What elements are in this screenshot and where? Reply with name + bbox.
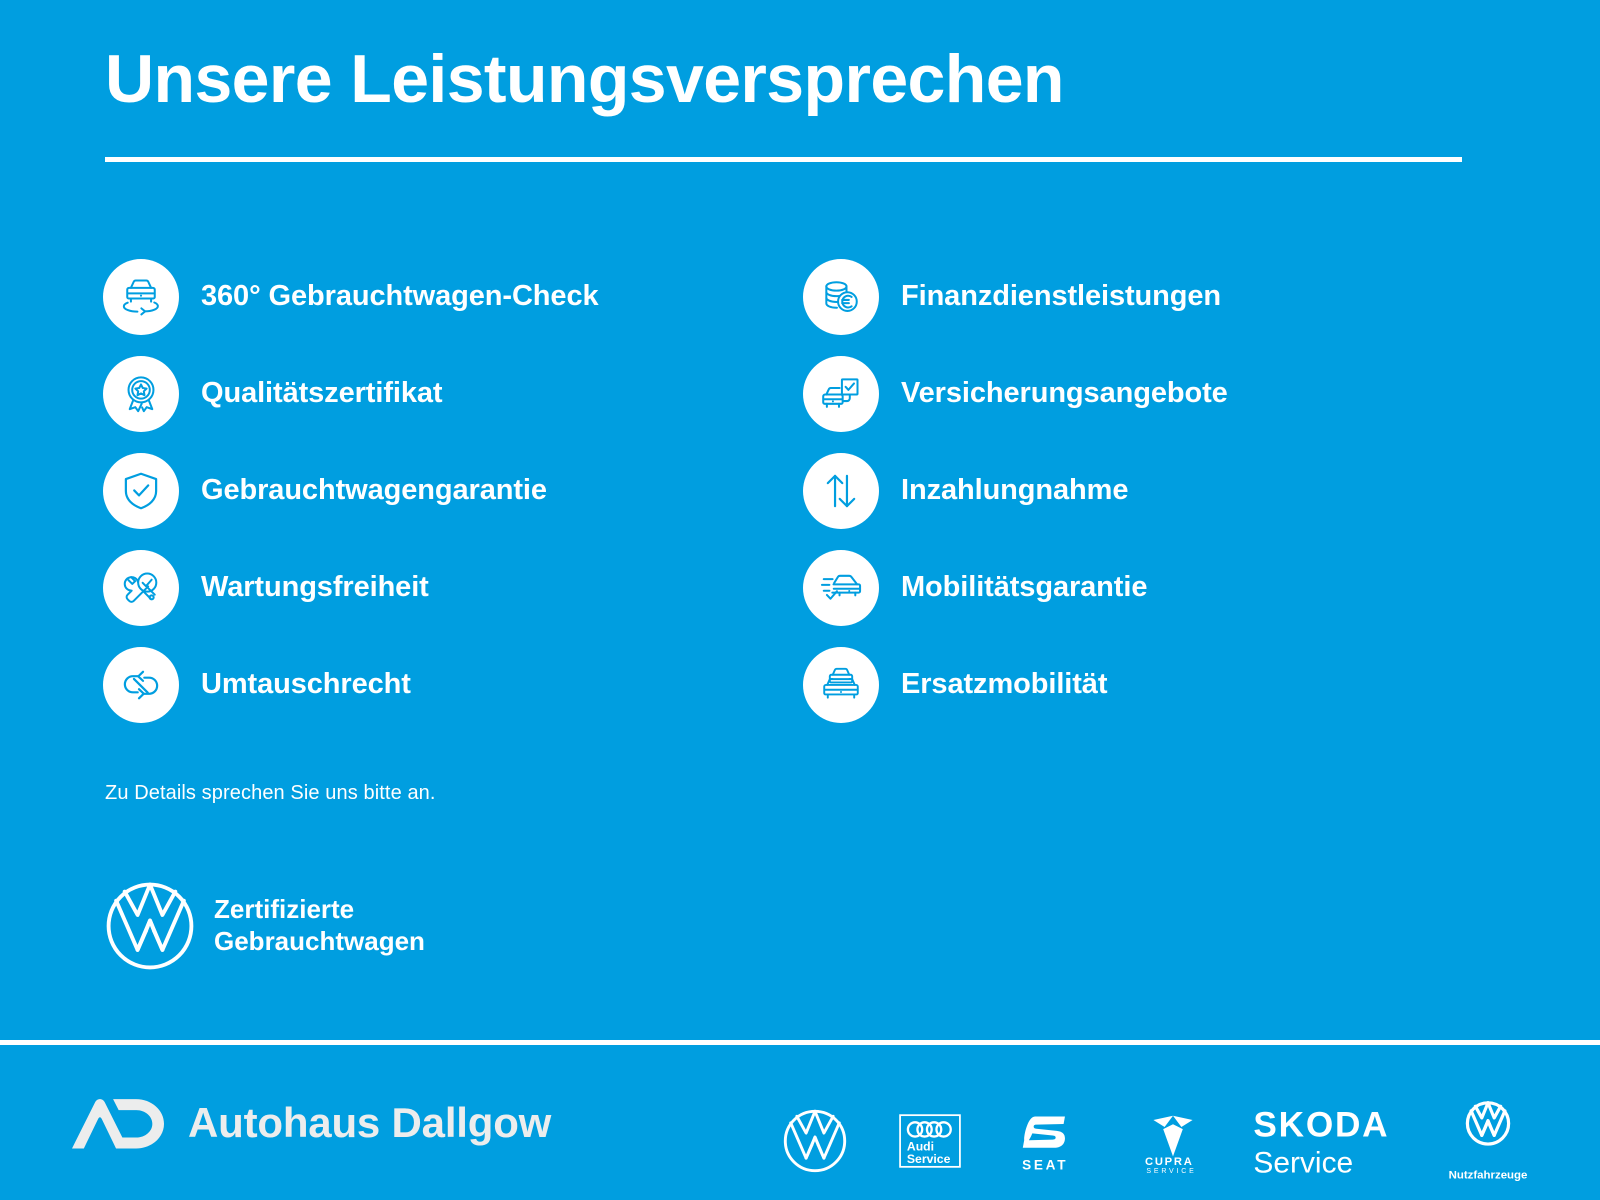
- dealer-branding: Autohaus Dallgow: [72, 1097, 551, 1149]
- svg-text:SEAT: SEAT: [1022, 1158, 1068, 1173]
- wrench-check-icon: [103, 550, 179, 626]
- page-title: Unsere Leistungsversprechen: [105, 44, 1465, 115]
- benefit-label: Qualitätszertifikat: [201, 377, 442, 410]
- benefit-item-360-check: 360° Gebrauchtwagen-Check: [103, 248, 803, 345]
- ad-monogram-icon: [72, 1097, 164, 1149]
- benefit-label: Finanzdienstleistungen: [901, 280, 1221, 313]
- certified-line-1: Zertifizierte: [214, 894, 354, 924]
- svg-text:Nutzfahrzeuge: Nutzfahrzeuge: [1448, 1169, 1527, 1181]
- shield-check-icon: [103, 453, 179, 529]
- brand-logo-audi-service: Audi Service: [870, 1091, 990, 1191]
- seat-s-icon: [1023, 1117, 1065, 1148]
- benefit-item-insurance-offers: Versicherungsangebote: [803, 345, 1503, 442]
- benefit-item-exchange-right: Umtauschrecht: [103, 636, 803, 733]
- coins-euro-icon: [803, 259, 879, 335]
- cupra-mark-icon: [1153, 1116, 1192, 1157]
- brand-logo-seat: SEAT: [990, 1091, 1110, 1191]
- certified-used-cars-badge: Zertifizierte Gebrauchtwagen: [104, 880, 425, 972]
- benefit-item-mobility-guarantee: Mobilitätsgarantie: [803, 539, 1503, 636]
- benefit-label: 360° Gebrauchtwagen-Check: [201, 280, 599, 313]
- arrows-up-down-icon: [803, 453, 879, 529]
- svg-text:Service: Service: [907, 1152, 951, 1166]
- benefit-item-replacement-mobility: Ersatzmobilität: [803, 636, 1503, 733]
- car-document-check-icon: [803, 356, 879, 432]
- benefit-label: Mobilitätsgarantie: [901, 571, 1147, 604]
- footer: Autohaus Dallgow: [0, 1045, 1600, 1200]
- promo-poster: Unsere Leistungsversprechen 360° Gebr: [0, 0, 1600, 1200]
- brand-logo-skoda-service: SKODA Service: [1235, 1091, 1425, 1191]
- car-360-check-icon: [103, 259, 179, 335]
- benefit-label: Versicherungsangebote: [901, 377, 1228, 410]
- brand-logo-row: Audi Service SEAT: [760, 1091, 1560, 1191]
- brand-logo-volkswagen: [760, 1091, 870, 1191]
- exchange-arrows-icon: [103, 647, 179, 723]
- benefit-label: Ersatzmobilität: [901, 668, 1107, 701]
- benefit-item-quality-certificate: Qualitätszertifikat: [103, 345, 803, 442]
- dealer-name: Autohaus Dallgow: [188, 1099, 551, 1147]
- brand-logo-vw-nutzfahrzeuge: Nutzfahrzeuge: [1425, 1091, 1550, 1191]
- benefit-item-trade-in: Inzahlungnahme: [803, 442, 1503, 539]
- benefit-label: Umtauschrecht: [201, 668, 411, 701]
- volkswagen-roundel-icon: [104, 880, 196, 972]
- two-cars-icon: [803, 647, 879, 723]
- header: Unsere Leistungsversprechen: [105, 44, 1465, 162]
- car-speed-check-icon: [803, 550, 879, 626]
- svg-text:CUPRA: CUPRA: [1145, 1156, 1194, 1168]
- svg-text:SERVICE: SERVICE: [1146, 1168, 1196, 1175]
- footnote-text: Zu Details sprechen Sie uns bitte an.: [105, 782, 436, 805]
- benefit-item-used-car-warranty: Gebrauchtwagengarantie: [103, 442, 803, 539]
- benefit-item-financial-services: Finanzdienstleistungen: [803, 248, 1503, 345]
- benefits-grid: 360° Gebrauchtwagen-Check Finanzdienstle…: [103, 248, 1503, 733]
- benefit-item-maintenance-free: Wartungsfreiheit: [103, 539, 803, 636]
- award-ribbon-star-icon: [103, 356, 179, 432]
- benefit-label: Wartungsfreiheit: [201, 571, 429, 604]
- certified-label: Zertifizierte Gebrauchtwagen: [214, 894, 425, 958]
- header-divider: [105, 157, 1462, 162]
- skoda-wordmark-icon: SKODA: [1253, 1106, 1389, 1145]
- brand-logo-cupra-service: CUPRA SERVICE: [1110, 1091, 1235, 1191]
- audi-rings-icon: [908, 1122, 951, 1136]
- svg-text:Service: Service: [1253, 1147, 1353, 1180]
- benefit-label: Inzahlungnahme: [901, 474, 1128, 507]
- certified-line-2: Gebrauchtwagen: [214, 926, 425, 956]
- benefit-label: Gebrauchtwagengarantie: [201, 474, 547, 507]
